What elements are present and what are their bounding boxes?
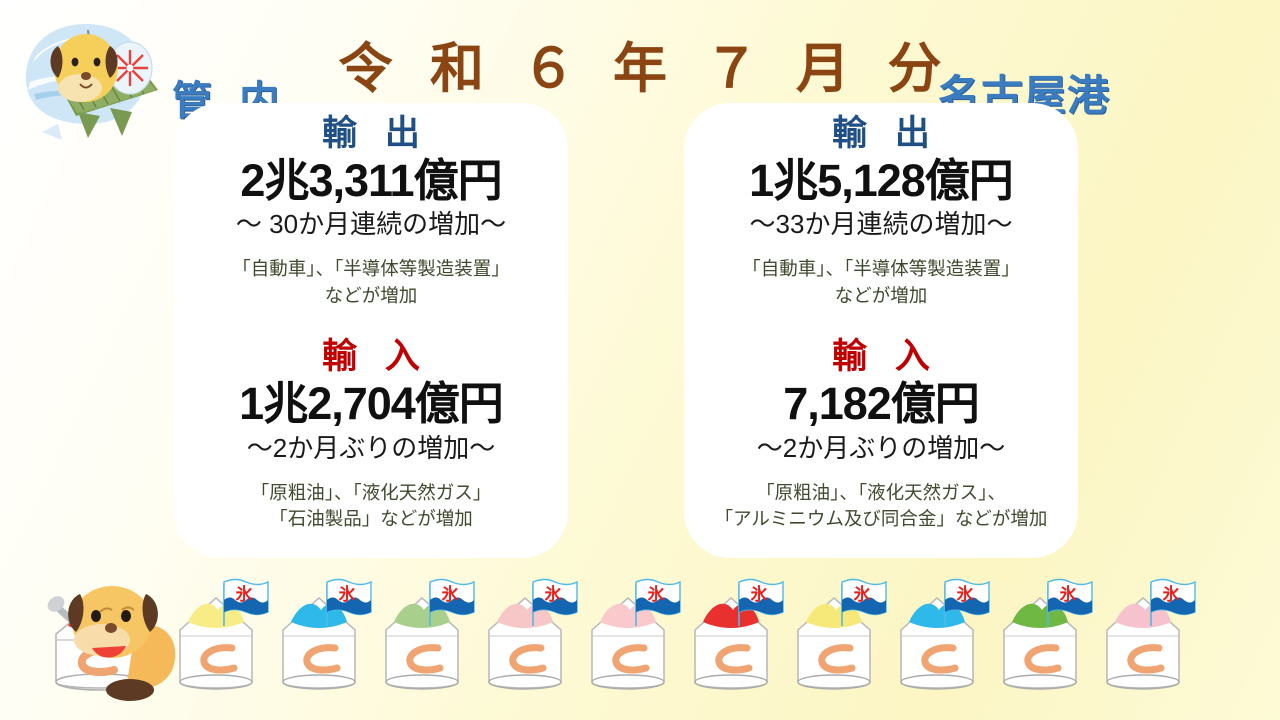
shaved-ice-cup: 氷 bbox=[798, 580, 886, 690]
export-heading: 輸 出 bbox=[696, 113, 1066, 154]
export-trend: 〜33か月連続の増加〜 bbox=[696, 207, 1066, 242]
import-amount: 7,182億円 bbox=[696, 377, 1066, 430]
import-item-line: 「原粗油」、「液化天然ガス」 bbox=[186, 480, 556, 507]
export-amount: 2兆3,311億円 bbox=[186, 154, 556, 207]
shaved-ice-cup: 氷 bbox=[901, 580, 989, 690]
import-trend: 〜2か月ぶりの増加〜 bbox=[186, 431, 556, 466]
export-item-line: 「自動車」、「半導体等製造装置」 bbox=[696, 256, 1066, 283]
ice-flag-label: 氷 bbox=[957, 584, 975, 604]
ice-flag-label: 氷 bbox=[339, 584, 357, 604]
ice-flag-label: 氷 bbox=[751, 584, 769, 604]
shaved-ice-cup: 氷 bbox=[1004, 580, 1092, 690]
shaved-ice-cup: 氷 bbox=[695, 580, 783, 690]
section-spacer bbox=[696, 310, 1066, 336]
export-heading: 輸 出 bbox=[186, 113, 556, 154]
ice-flag-label: 氷 bbox=[854, 584, 872, 604]
ice-flag-label: 氷 bbox=[236, 584, 254, 604]
section-spacer bbox=[186, 310, 556, 336]
shaved-ice-cup: 氷 bbox=[283, 580, 371, 690]
import-amount: 1兆2,704億円 bbox=[186, 377, 556, 430]
ice-flag-label: 氷 bbox=[648, 584, 666, 604]
stats-panel-kannai: 輸 出 2兆3,311億円 〜 30か月連続の増加〜 「自動車」、「半導体等製造… bbox=[174, 103, 568, 558]
export-item-line: 「自動車」、「半導体等製造装置」 bbox=[186, 256, 556, 283]
shaved-ice-cup: 氷 bbox=[1107, 580, 1195, 690]
import-heading: 輸 入 bbox=[696, 336, 1066, 377]
export-trend: 〜 30か月連続の増加〜 bbox=[186, 207, 556, 242]
import-item-line: 「アルミニウム及び同合金」などが増加 bbox=[696, 506, 1066, 533]
shaved-ice-cup: 氷 bbox=[489, 580, 577, 690]
import-heading: 輸 入 bbox=[186, 336, 556, 377]
ice-flag-label: 氷 bbox=[1163, 584, 1181, 604]
import-trend: 〜2か月ぶりの増加〜 bbox=[696, 431, 1066, 466]
import-item-line: 「石油製品」などが増加 bbox=[186, 506, 556, 533]
export-amount: 1兆5,128億円 bbox=[696, 154, 1066, 207]
dog-eating-shaved-ice-icon bbox=[34, 566, 214, 716]
shaved-ice-cup: 氷 bbox=[592, 580, 680, 690]
ice-flag-label: 氷 bbox=[1060, 584, 1078, 604]
export-item-line: などが増加 bbox=[696, 283, 1066, 310]
ice-flag-label: 氷 bbox=[545, 584, 563, 604]
ice-flag-label: 氷 bbox=[442, 584, 460, 604]
shaved-ice-cup: 氷 bbox=[386, 580, 474, 690]
export-item-line: などが増加 bbox=[186, 283, 556, 310]
mascot-dog-eating-shaved-ice bbox=[34, 566, 214, 716]
import-item-line: 「原粗油」、「液化天然ガス」、 bbox=[696, 480, 1066, 507]
stats-panel-nagoya-port: 輸 出 1兆5,128億円 〜33か月連続の増加〜 「自動車」、「半導体等製造装… bbox=[684, 103, 1078, 558]
